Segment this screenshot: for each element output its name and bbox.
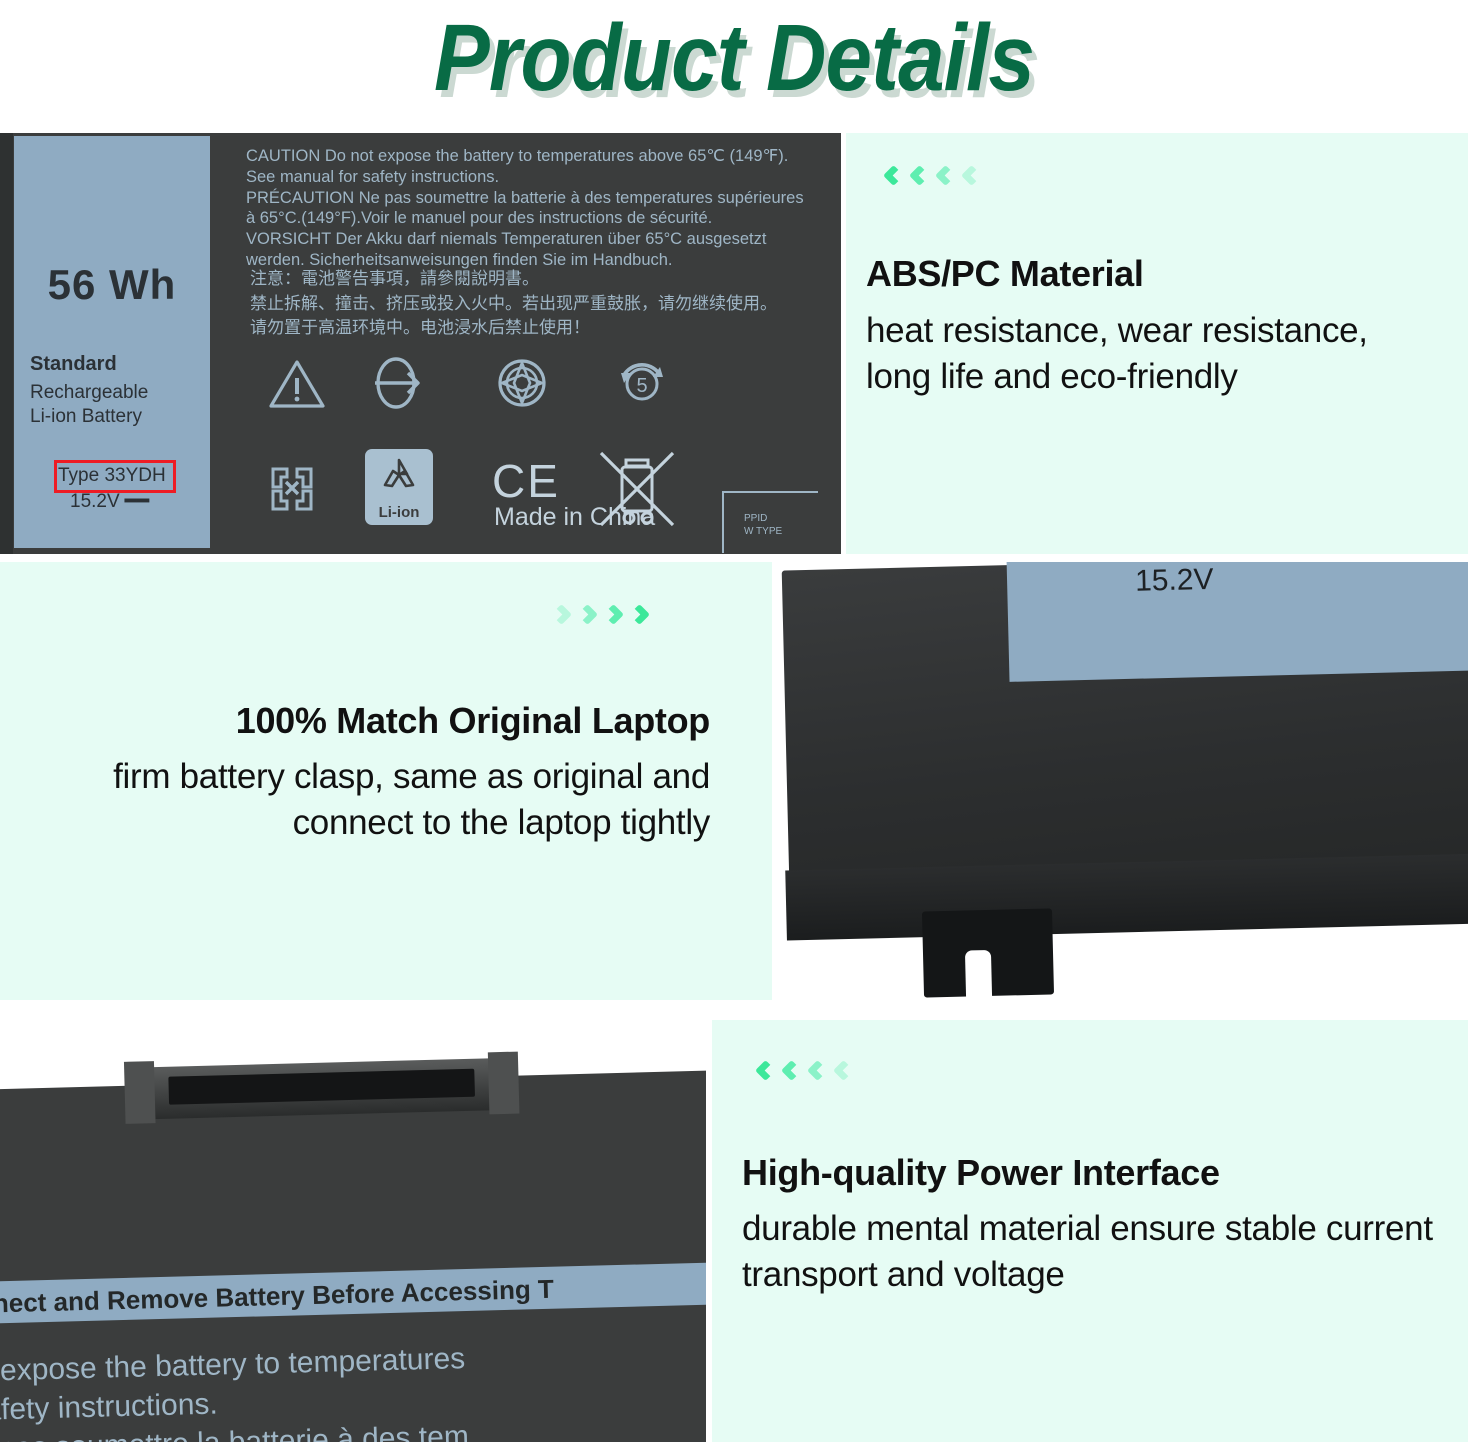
caution-cjk-block: 注意：電池警告事項，請參閱說明書。 禁止拆解、撞击、挤压或投入火中。若出现严重鼓…: [250, 267, 841, 341]
caution-fr-1: PRÉCAUTION Ne pas soumettre la batterie …: [246, 188, 841, 209]
battery-connector: [146, 1058, 497, 1119]
page-title: Product Details: [88, 4, 1380, 113]
chevron-left-icon-3: [808, 1060, 830, 1094]
crossed-arrows-icon: [494, 355, 550, 411]
connector-post-right: [488, 1052, 520, 1115]
battery-recycle-icon: [267, 463, 317, 515]
battery-subtitle-line2: Li-ion Battery: [30, 406, 142, 427]
connector-slot: [168, 1069, 475, 1105]
caution-fr-2: à 65°C.(149°F).Voir le manuel pour des i…: [246, 208, 841, 229]
warning-band-text: sconnect and Remove Battery Before Acces…: [0, 1269, 706, 1321]
battery-body: sconnect and Remove Battery Before Acces…: [0, 1070, 706, 1442]
chevron-left-icon-2: [782, 1060, 804, 1094]
feature-match-original-laptop: 100% Match Original Laptop firm battery …: [0, 562, 772, 1000]
made-in-china-text: Made in China: [494, 503, 655, 532]
rohs-5-icon: 5: [614, 357, 670, 411]
battery-spec-label: 56 Wh Standard Rechargeable Li-ion Batte…: [14, 136, 210, 548]
chevron-left-icon-2: [910, 165, 932, 199]
chevron-left-icon-1: [884, 165, 906, 199]
chevron-right-icon-4: [630, 604, 652, 638]
battery-label-strip: 15.2V: [1007, 562, 1468, 682]
warning-band: sconnect and Remove Battery Before Acces…: [0, 1262, 706, 1325]
chevron-left-icon-1: [756, 1060, 778, 1094]
ppid-line1: PPID: [744, 513, 767, 524]
caution-de-1: VORSICHT Der Akku darf niemals Temperatu…: [246, 229, 841, 250]
chevron-right-icon-1: [552, 604, 574, 638]
warning-triangle-icon: [268, 358, 326, 410]
clasp-notch: [965, 950, 992, 1000]
chevron-right-icon-2: [578, 604, 600, 638]
chevron-left-group: [884, 165, 984, 199]
battery-clasp-tab: [922, 908, 1054, 997]
ce-mark-icon: CE: [492, 458, 560, 504]
battery-label-voltage: 15.2V: [1135, 563, 1214, 599]
caution-text-block: CAUTION Do not expose the battery to tem…: [246, 146, 841, 271]
battery-label-photo: 56 Wh Standard Rechargeable Li-ion Batte…: [0, 133, 841, 554]
battery-capacity: 56 Wh: [14, 261, 210, 309]
caution-en-2: See manual for safety instructions.: [246, 167, 841, 188]
feature-title: High-quality Power Interface: [742, 1152, 1462, 1193]
svg-text:5: 5: [636, 375, 647, 397]
feature-body: heat resistance, wear resistance, long l…: [866, 308, 1436, 400]
battery-subtitle: Rechargeable Li-ion Battery: [30, 381, 210, 430]
feature-title: 100% Match Original Laptop: [0, 700, 710, 741]
feature-abs-pc-material: ABS/PC Material heat resistance, wear re…: [846, 133, 1468, 554]
ppid-box: PPID W TYPE: [722, 491, 818, 553]
li-ion-badge-label: Li-ion: [365, 504, 433, 521]
chevron-left-icon-4: [962, 165, 984, 199]
feature-body: firm battery clasp, same as original and…: [0, 754, 710, 846]
caution-cjk-3: 请勿置于高温环境中。电池浸水后禁止使用！: [250, 316, 841, 341]
feature-title: ABS/PC Material: [866, 253, 1446, 294]
dc-symbol: ━━: [125, 491, 150, 512]
do-not-disassemble-icon: [368, 355, 424, 411]
battery-type-code: Type 33YDH: [58, 465, 188, 487]
chevron-right-group: [552, 604, 652, 638]
label-dark-edge: [0, 133, 13, 554]
ppid-text: PPID W TYPE: [744, 513, 782, 538]
ppid-line2: W TYPE: [744, 526, 782, 537]
battery-subtitle-line1: Rechargeable: [30, 382, 148, 403]
chevron-left-icon-3: [936, 165, 958, 199]
battery-caution-text: not expose the battery to temperatures r…: [0, 1332, 706, 1442]
battery-voltage: 15.2V ━━: [70, 490, 210, 513]
li-ion-recycle-icon: Li-ion: [365, 449, 433, 525]
caution-en-1: CAUTION Do not expose the battery to tem…: [246, 146, 841, 167]
page-header: Product Details: [0, 0, 1468, 126]
feature-high-quality-power-interface: High-quality Power Interface durable men…: [712, 1020, 1468, 1442]
battery-voltage-value: 15.2V: [70, 491, 120, 512]
battery-standard-text: Standard: [30, 354, 210, 374]
caution-cjk-1: 注意：電池警告事項，請參閱說明書。: [250, 267, 841, 292]
chevron-right-icon-3: [604, 604, 626, 638]
chevron-left-group: [756, 1060, 856, 1094]
battery-corner-photo: 15.2V: [778, 562, 1468, 1000]
chevron-left-icon-4: [834, 1060, 856, 1094]
battery-clasp-photo: sconnect and Remove Battery Before Acces…: [0, 1020, 706, 1442]
feature-body: durable mental material ensure stable cu…: [742, 1206, 1442, 1298]
caution-cjk-2: 禁止拆解、撞击、挤压或投入火中。若出现严重鼓胀，请勿继续使用。: [250, 292, 841, 317]
connector-post-left: [124, 1061, 156, 1124]
